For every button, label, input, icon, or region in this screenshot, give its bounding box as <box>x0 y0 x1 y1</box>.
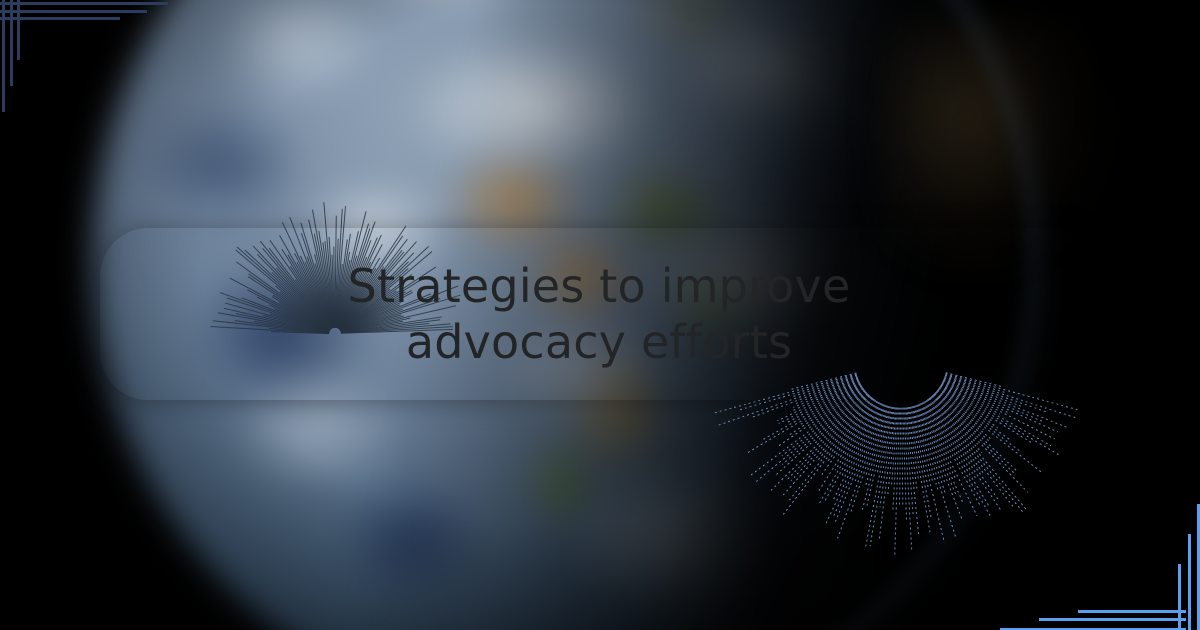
page-title: Strategies to improve advocacy efforts <box>308 258 891 370</box>
corner-rule-h-0 <box>0 2 168 5</box>
corner-rule-h-2 <box>1078 610 1186 613</box>
corner-rule-v-4 <box>10 0 13 86</box>
corner-rule-v-5 <box>1178 564 1181 630</box>
poster-canvas: Strategies to improve advocacy efforts <box>0 0 1200 630</box>
title-banner: Strategies to improve advocacy efforts <box>100 228 1098 400</box>
corner-rule-v-3 <box>2 0 5 112</box>
corner-rule-h-1 <box>0 10 147 13</box>
corner-rule-v-4 <box>1188 534 1191 630</box>
corner-rule-h-1 <box>1039 618 1186 621</box>
corner-rule-v-5 <box>17 0 20 60</box>
